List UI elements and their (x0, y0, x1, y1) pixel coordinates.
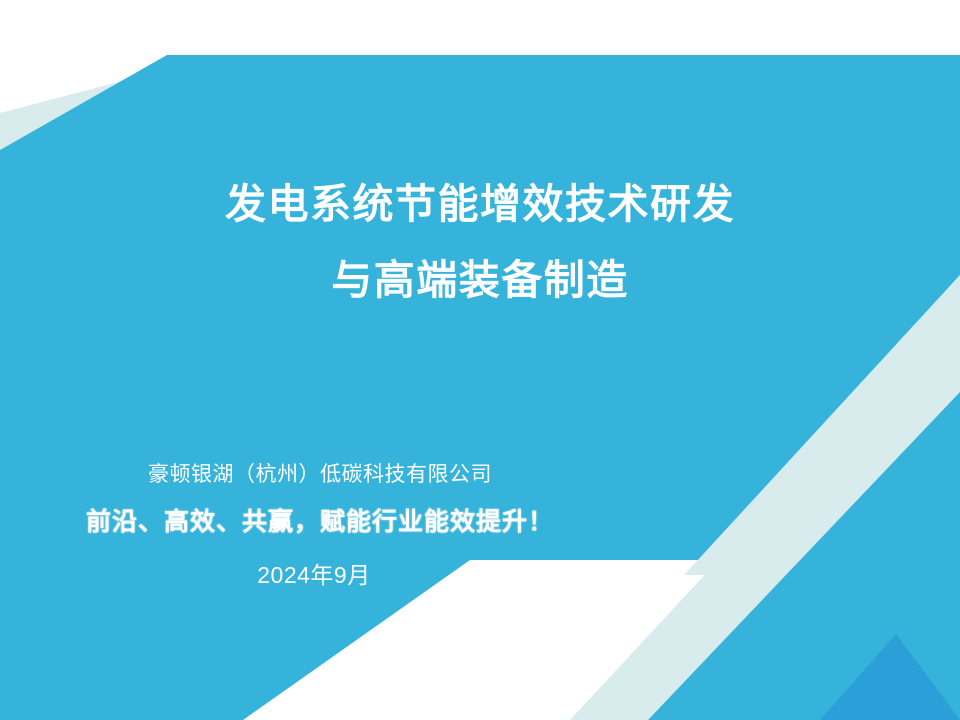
company-slogan: 前沿、高效、共赢，赋能行业能效提升！ (0, 502, 640, 542)
title-line-1: 发电系统节能增效技术研发 (0, 168, 960, 240)
slide-date: 2024年9月 (0, 558, 640, 592)
slide-title: 发电系统节能增效技术研发 与高端装备制造 (0, 168, 960, 316)
presentation-slide: 发电系统节能增效技术研发 与高端装备制造 豪顿银湖（杭州）低碳科技有限公司 前沿… (0, 0, 960, 720)
slide-content: 发电系统节能增效技术研发 与高端装备制造 豪顿银湖（杭州）低碳科技有限公司 前沿… (0, 0, 960, 720)
title-line-2: 与高端装备制造 (0, 244, 960, 316)
slide-identity-block: 豪顿银湖（杭州）低碳科技有限公司 前沿、高效、共赢，赋能行业能效提升！ 2024… (0, 458, 640, 592)
company-name: 豪顿银湖（杭州）低碳科技有限公司 (0, 458, 640, 492)
